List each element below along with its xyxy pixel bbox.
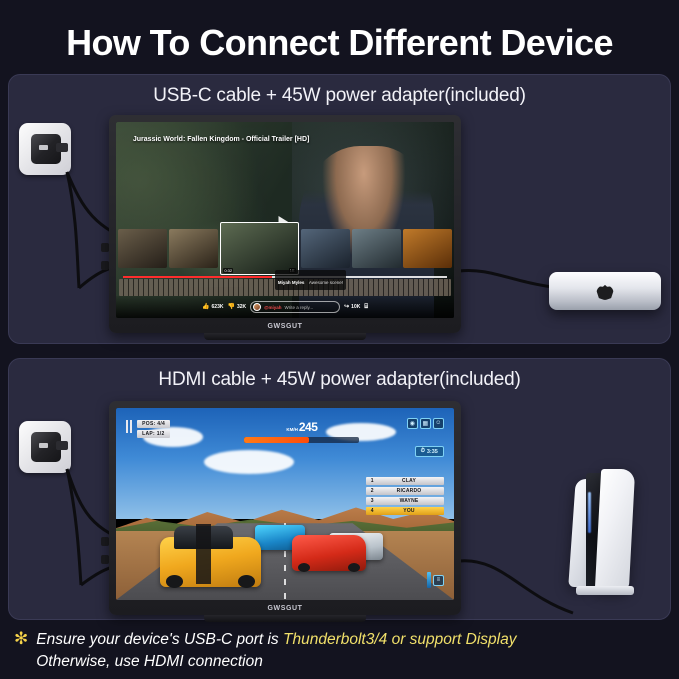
ps5-base <box>576 586 634 595</box>
thumbnail-item[interactable] <box>403 229 452 268</box>
leaderboard-row-player: 4 YOU <box>366 507 444 515</box>
leaderboard-name: RICARDO <box>376 488 442 494</box>
hud-lap: LAP: 1/2 <box>137 430 170 438</box>
power-adapter-usbc <box>31 134 61 164</box>
boost-bar <box>427 572 431 588</box>
thumbnail-item[interactable] <box>118 229 167 268</box>
video-player-scene[interactable]: Jurassic World: Fallen Kingdom - Officia… <box>116 122 454 318</box>
hud-chips: POS: 4/4 LAP: 1/2 <box>137 420 170 440</box>
monitor-stand-hdmi <box>204 615 366 622</box>
monitor-port-power-usbc <box>101 243 109 252</box>
monitor-screen-usbc[interactable]: Jurassic World: Fallen Kingdom - Officia… <box>116 122 454 318</box>
pause-icon[interactable] <box>126 420 134 433</box>
racing-game-scene[interactable]: POS: 4/4 LAP: 1/2 KM/H <box>116 408 454 600</box>
wheel-icon <box>348 563 361 572</box>
save-button[interactable]: ⌸ <box>364 304 368 310</box>
race-car-red <box>292 535 366 571</box>
wall-outlet-usbc <box>19 123 71 175</box>
hud-leaderboard: 1 CLAY 2 RICARDO 3 WAYNE <box>366 477 444 517</box>
portable-monitor-hdmi: POS: 4/4 LAP: 1/2 KM/H <box>109 401 461 615</box>
ps5-panel-right <box>595 469 635 591</box>
video-thumbnail-strip[interactable]: 0:32 1K <box>116 226 454 271</box>
like-button[interactable]: 👍 623K <box>202 304 223 310</box>
wheel-icon <box>166 575 183 588</box>
hud-icon-group[interactable]: ◉ ▦ ☺ <box>407 418 444 429</box>
video-progress <box>123 276 272 278</box>
monitor-port-hdmi <box>101 555 109 564</box>
speed-bar-fill <box>244 437 308 443</box>
leaderboard-row: 2 RICARDO <box>366 487 444 495</box>
leaderboard-position: 1 <box>368 478 376 484</box>
hud-position: POS: 4/4 <box>137 420 170 428</box>
speed-value: 245 <box>299 420 318 434</box>
reply-placeholder: Write a reply... <box>285 305 314 310</box>
power-adapter-hdmi <box>31 432 61 462</box>
mac-mini-device <box>549 272 661 310</box>
video-title: Jurassic World: Fallen Kingdom - Officia… <box>133 136 309 143</box>
leaderboard-position: 3 <box>368 498 376 504</box>
monitor-port-power-hdmi <box>101 537 109 546</box>
bookmark-icon: ⌸ <box>364 304 368 310</box>
clock-icon: ⏱ <box>421 448 425 455</box>
wheel-icon[interactable]: ☺ <box>433 418 444 429</box>
share-icon: ↪ <box>344 304 349 310</box>
hud-status-group: POS: 4/4 LAP: 1/2 <box>126 420 170 440</box>
panel-usbc-heading: USB-C cable + 45W power adapter(included… <box>9 75 670 107</box>
portable-monitor-usbc: Jurassic World: Fallen Kingdom - Officia… <box>109 115 461 333</box>
thumbnail-item[interactable] <box>352 229 401 268</box>
leaderboard-position: 4 <box>368 508 376 514</box>
leaderboard-name: CLAY <box>376 478 442 484</box>
thumbs-down-icon: 👎 <box>227 304 234 310</box>
monitor-screen-hdmi[interactable]: POS: 4/4 LAP: 1/2 KM/H <box>116 408 454 600</box>
page-title: How To Connect Different Device <box>0 0 679 70</box>
wall-outlet-hdmi <box>19 421 71 473</box>
speed-bar <box>244 437 359 443</box>
wheel-icon <box>298 563 311 572</box>
like-count: 623K <box>212 304 224 310</box>
footnote-line2: Otherwise, use HDMI connection <box>36 653 263 670</box>
thumbnail-item[interactable] <box>301 229 350 268</box>
thumbnail-timestamp: 0:32 <box>223 268 233 273</box>
thumbs-up-icon: 👍 <box>202 304 209 310</box>
monitor-port-usbc <box>101 261 109 270</box>
monitor-bezel-usbc: Jurassic World: Fallen Kingdom - Officia… <box>109 115 461 333</box>
monitor-bezel-hdmi: POS: 4/4 LAP: 1/2 KM/H <box>109 401 461 615</box>
panel-hdmi-heading: HDMI cable + 45W power adapter(included) <box>9 359 670 391</box>
panel-hdmi: HDMI cable + 45W power adapter(included) <box>8 358 671 620</box>
dislike-count: 32K <box>237 304 246 310</box>
adapter-prong-icon <box>39 145 48 150</box>
adapter-prong-icon <box>39 443 48 448</box>
ps5-console-device <box>554 469 646 591</box>
footnote-text: Ensure your device's USB-C port is Thund… <box>36 629 516 673</box>
footnote: ✻ Ensure your device's USB-C port is Thu… <box>14 629 665 673</box>
panel-usbc: USB-C cable + 45W power adapter(included… <box>8 74 671 344</box>
leaderboard-row: 1 CLAY <box>366 477 444 485</box>
camera-icon[interactable]: ◉ <box>407 418 418 429</box>
dislike-button[interactable]: 👎 32K <box>227 304 246 310</box>
share-count: 10K <box>351 304 360 310</box>
reply-username: @miyah <box>264 305 281 310</box>
asterisk-icon: ✻ <box>14 629 28 649</box>
leaderboard-name: YOU <box>376 508 442 514</box>
hud-timer: ⏱ 3:35 <box>415 446 444 457</box>
thumbnail-item-active[interactable]: 0:32 1K <box>220 222 298 275</box>
thumbnail-item[interactable] <box>169 229 218 268</box>
leaderboard-name: WAYNE <box>376 498 442 504</box>
race-car-player <box>160 537 261 587</box>
monitor-brand-logo: GWSGUT <box>109 323 461 330</box>
nitro-icon[interactable]: ≡ <box>433 575 444 586</box>
infographic-page: How To Connect Different Device USB-C ca… <box>0 0 679 679</box>
footnote-highlight: Thunderbolt3/4 or support Display <box>283 631 517 648</box>
comment-overlay: Miyah Myles Awesome scene! <box>275 270 346 290</box>
video-control-bar[interactable]: 👍 623K 👎 32K @miyah Write a reply... <box>116 296 454 318</box>
avatar <box>253 303 261 311</box>
monitor-brand-logo: GWSGUT <box>109 605 461 612</box>
leaderboard-position: 2 <box>368 488 376 494</box>
leaderboard-row: 3 WAYNE <box>366 497 444 505</box>
replay-icon[interactable]: ▦ <box>420 418 431 429</box>
wheel-icon <box>238 575 255 588</box>
monitor-stand-usbc <box>204 333 366 340</box>
comment-author: Miyah Myles <box>278 280 305 285</box>
share-button[interactable]: ↪ 10K <box>344 304 360 310</box>
footnote-line1-part1: Ensure your device's USB-C port is <box>36 631 283 648</box>
hud-speedometer: KM/H245 <box>244 418 359 443</box>
timer-value: 3:35 <box>427 449 438 455</box>
hud-boost-meter: ≡ <box>427 572 444 588</box>
reply-input[interactable]: @miyah Write a reply... <box>250 301 340 313</box>
comment-text: Awesome scene! <box>309 280 343 285</box>
speed-unit: KM/H <box>286 427 298 432</box>
